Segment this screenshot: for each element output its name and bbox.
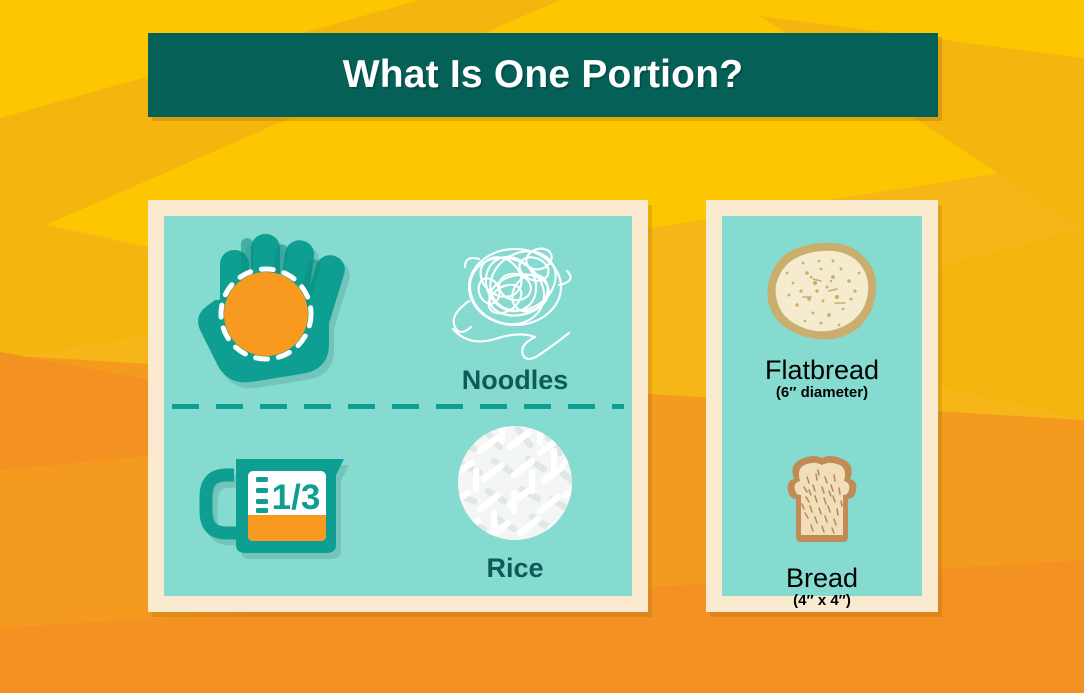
rice-mound-icon (398, 412, 632, 562)
cell-hand (164, 216, 398, 406)
measuring-cup-value: 1/3 (272, 478, 321, 517)
bread-label-group: Bread (4″ x 4″) (722, 564, 922, 610)
bread-slice-icon (722, 438, 922, 560)
noodles-label: Noodles (398, 366, 632, 394)
cell-noodles: Noodles (398, 216, 632, 406)
flatbread-item: Flatbread (6″ diameter) (722, 230, 922, 402)
flatbread-sublabel: (6″ diameter) (722, 384, 922, 402)
infographic-canvas: What Is One Portion? (0, 0, 1084, 693)
noodles-tangle-icon (398, 224, 632, 374)
hand-palm-portion-icon (164, 222, 398, 402)
flatbread-icon (722, 230, 922, 352)
flatbread-label-group: Flatbread (6″ diameter) (722, 356, 922, 402)
cell-rice: Rice (398, 406, 632, 596)
bread-item: Bread (4″ x 4″) (722, 438, 922, 610)
page-title: What Is One Portion? (343, 53, 744, 97)
bread-sublabel: (4″ x 4″) (722, 592, 922, 610)
cell-measuring-cup: 1/3 (164, 406, 398, 596)
breads-card: Flatbread (6″ diameter) (706, 200, 938, 612)
rice-label-group: Rice (398, 554, 632, 582)
noodles-label-group: Noodles (398, 366, 632, 394)
title-banner: What Is One Portion? (148, 33, 938, 117)
bread-label: Bread (722, 564, 922, 592)
rice-label: Rice (398, 554, 632, 582)
grains-panel: Noodles (164, 216, 632, 596)
measuring-cup-icon: 1/3 (164, 426, 398, 576)
breads-panel: Flatbread (6″ diameter) (722, 216, 922, 596)
flatbread-label: Flatbread (722, 356, 922, 384)
grains-card: Noodles (148, 200, 648, 612)
